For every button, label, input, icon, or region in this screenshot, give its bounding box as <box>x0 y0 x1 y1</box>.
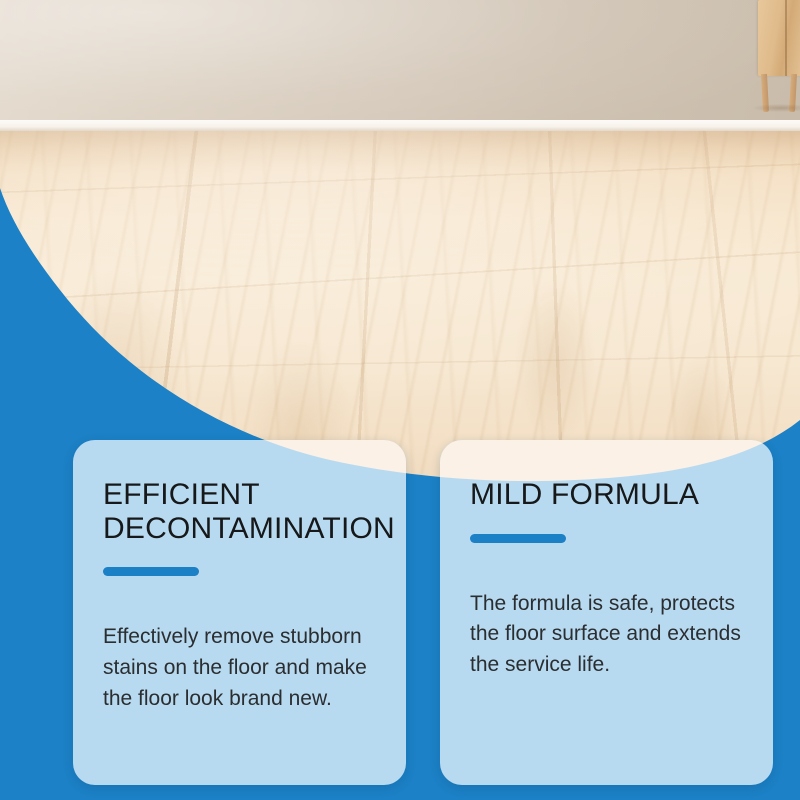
feature-card-mild-formula[interactable]: MILD FORMULA The formula is safe, protec… <box>440 440 773 785</box>
accent-underline <box>103 567 199 576</box>
card-title: EFFICIENT DECONTAMINATION <box>103 478 376 545</box>
feature-banner: EFFICIENT DECONTAMINATION Effectively re… <box>0 0 800 800</box>
card-title: MILD FORMULA <box>470 478 743 512</box>
photo-scene <box>0 0 800 500</box>
feature-card-efficient-decontamination[interactable]: EFFICIENT DECONTAMINATION Effectively re… <box>73 440 406 785</box>
wall-shading <box>0 0 800 124</box>
card-content-left: EFFICIENT DECONTAMINATION Effectively re… <box>73 440 406 715</box>
cabinet-shadow <box>752 104 800 112</box>
card-body-text: Effectively remove stubborn stains on th… <box>103 622 376 715</box>
accent-underline <box>470 534 566 543</box>
wooden-cabinet <box>758 0 800 76</box>
cabinet-door-seam <box>785 0 787 76</box>
card-body-text: The formula is safe, protects the floor … <box>470 589 743 682</box>
card-content-right: MILD FORMULA The formula is safe, protec… <box>440 440 773 681</box>
